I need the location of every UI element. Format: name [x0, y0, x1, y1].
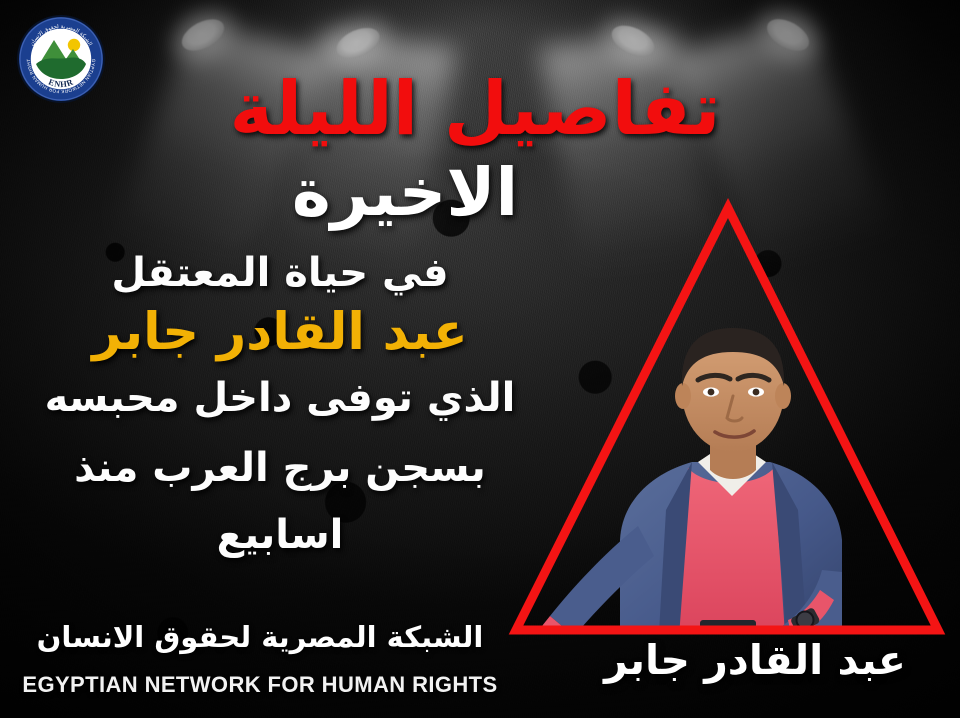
portrait-with-triangle-frame: [470, 180, 960, 650]
footer-organisation-arabic: الشبكة المصرية لحقوق الانسان: [0, 620, 520, 654]
poster-canvas: ENHR الشبكة المصرية لحقوق الانسان EGYPTI…: [0, 0, 960, 718]
portrait-caption-name: عبد القادر جابر: [560, 636, 950, 684]
footer-organisation-english: EGYPTIAN NETWORK FOR HUMAN RIGHTS: [0, 672, 520, 698]
portrait-illustration: [470, 180, 960, 650]
headline-line-1: تفاصيل الليلة: [0, 72, 960, 146]
